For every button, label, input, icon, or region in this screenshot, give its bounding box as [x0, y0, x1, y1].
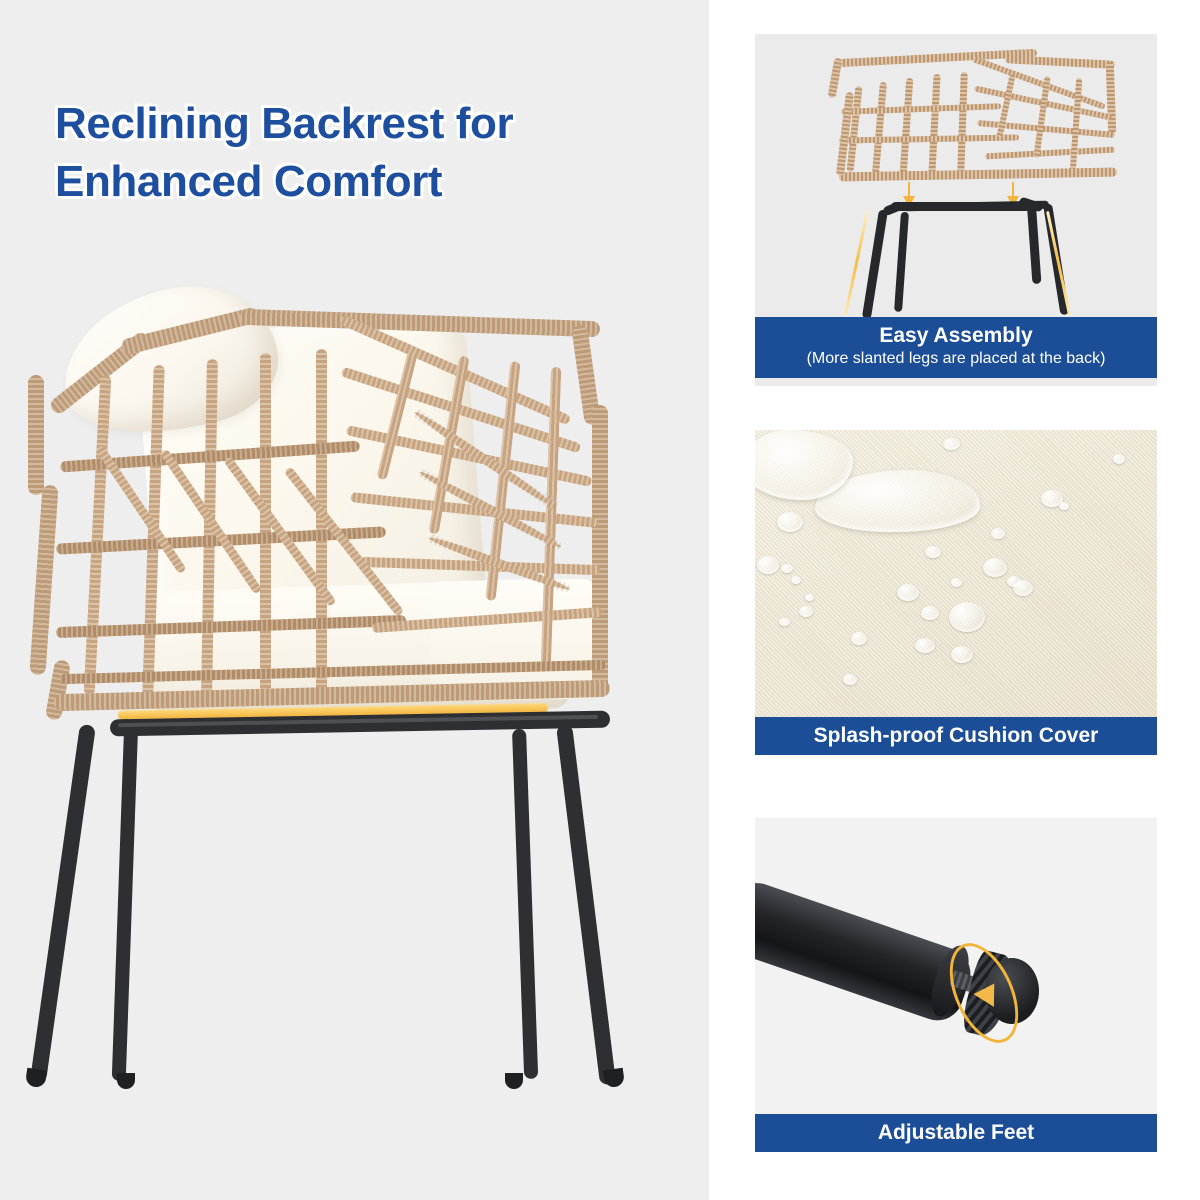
caption-title: Adjustable Feet: [759, 1121, 1153, 1145]
panel-caption-easy-assembly: Easy Assembly (More slanted legs are pla…: [755, 317, 1157, 378]
feature-panel-list: Easy Assembly (More slanted legs are pla…: [755, 0, 1157, 1200]
adjustable-feet-image: [755, 818, 1157, 1114]
splash-proof-image: [755, 430, 1157, 717]
panel-adjustable-feet: Adjustable Feet: [755, 818, 1157, 1152]
chair-illustration: [0, 255, 709, 1155]
water-drop: [777, 512, 803, 532]
page-title: Reclining Backrest for Enhanced Comfort: [55, 95, 675, 211]
water-drop: [843, 674, 857, 685]
caption-subtitle: (More slanted legs are placed at the bac…: [759, 349, 1153, 368]
water-drop: [925, 546, 941, 558]
water-drop: [1013, 580, 1033, 596]
caption-title: Easy Assembly: [759, 324, 1153, 348]
product-feature-graphic: Reclining Backrest for Enhanced Comfort: [0, 0, 1200, 1200]
water-drop: [1059, 502, 1069, 510]
water-drop: [991, 528, 1005, 539]
water-drop: [943, 438, 960, 450]
panel-easy-assembly: Easy Assembly (More slanted legs are pla…: [755, 34, 1157, 386]
water-drop: [805, 594, 814, 601]
panel-caption-splash-proof: Splash-proof Cushion Cover: [755, 717, 1157, 755]
panel-splash-proof: Splash-proof Cushion Cover: [755, 430, 1157, 755]
water-drop: [791, 576, 801, 584]
water-drop: [781, 564, 793, 573]
water-drop: [851, 632, 867, 645]
hero-product-image: Reclining Backrest for Enhanced Comfort: [0, 0, 709, 1200]
water-drop: [951, 578, 962, 587]
water-drop: [799, 606, 813, 617]
easy-assembly-image: [755, 34, 1157, 317]
water-drop: [921, 606, 939, 620]
water-drop: [915, 638, 935, 653]
panel-caption-adjustable-feet: Adjustable Feet: [755, 1114, 1157, 1152]
caption-title: Splash-proof Cushion Cover: [759, 724, 1153, 748]
water-drop: [757, 556, 779, 574]
water-drop: [1113, 454, 1125, 464]
water-drop: [949, 602, 985, 632]
water-drop: [951, 646, 973, 663]
water-drop: [779, 618, 790, 626]
water-drop: [897, 584, 919, 601]
water-drop: [983, 558, 1007, 577]
